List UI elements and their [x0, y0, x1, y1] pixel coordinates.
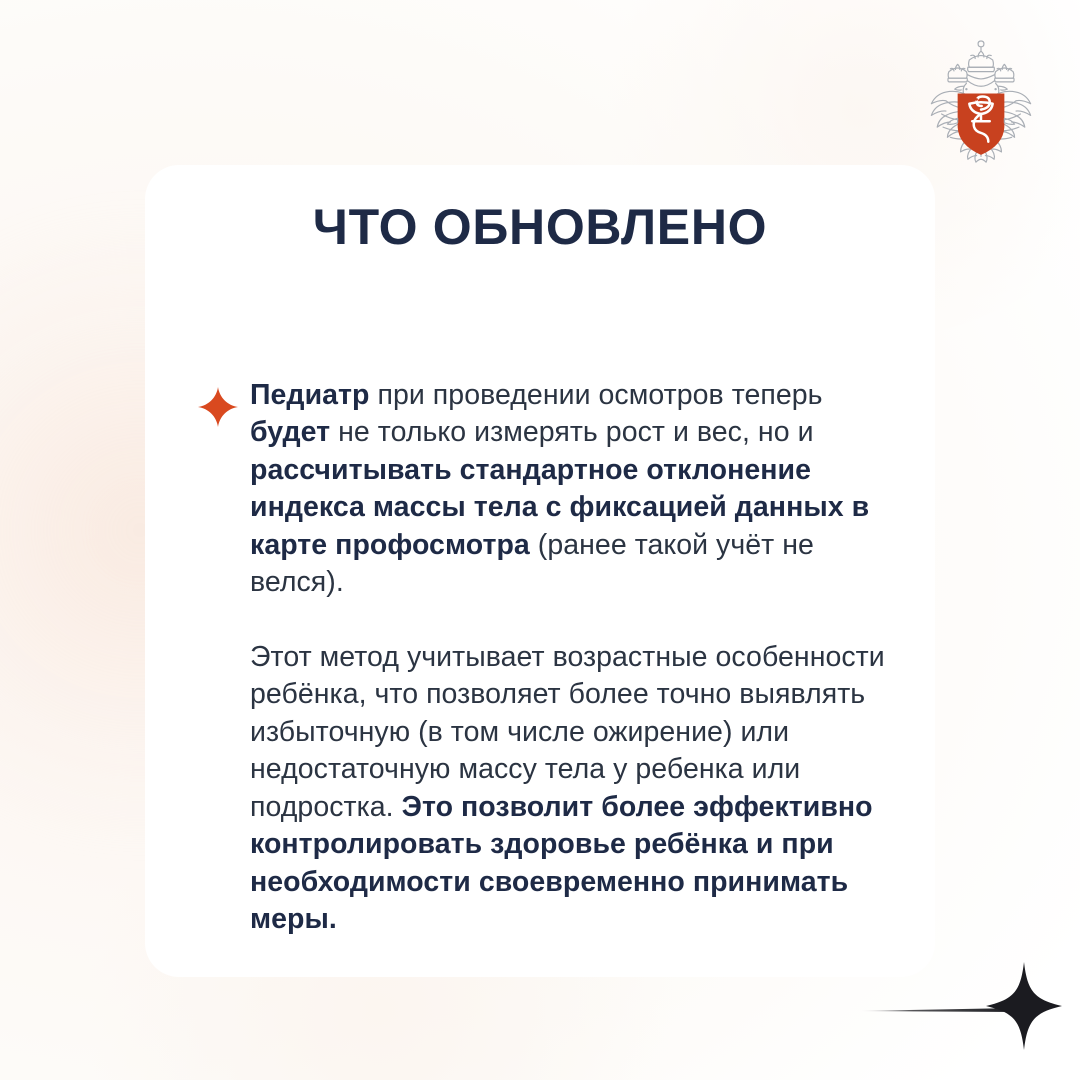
- page-title: ЧТО ОБНОВЛЕНО: [145, 200, 935, 255]
- four-point-star-icon: [198, 387, 238, 427]
- four-point-star-with-line-icon: [848, 958, 1068, 1054]
- content-card: ЧТО ОБНОВЛЕНО Педиатр при проведении осм…: [145, 165, 935, 977]
- bullet-item: Педиатр при проведении осмотров теперь б…: [180, 377, 910, 602]
- ministry-of-health-emblem: [908, 22, 1054, 168]
- card-body: Педиатр при проведении осмотров теперь б…: [180, 348, 910, 967]
- poster-canvas: ЧТО ОБНОВЛЕНО Педиатр при проведении осм…: [0, 0, 1080, 1080]
- paragraph-pediatrician: Педиатр при проведении осмотров теперь б…: [250, 377, 910, 602]
- paragraph-method: Этот метод учитывает возрастные особенно…: [180, 639, 910, 939]
